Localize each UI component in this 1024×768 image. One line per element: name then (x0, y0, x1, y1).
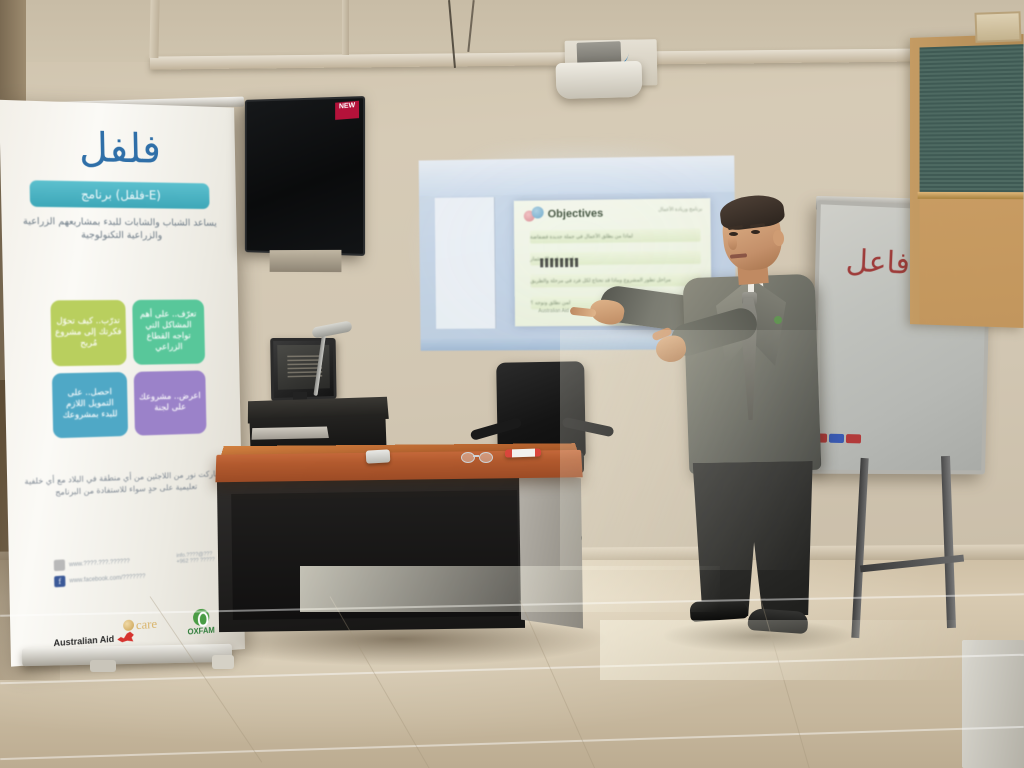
wall-sunlight (560, 330, 820, 570)
ceiling-projector (556, 61, 643, 99)
whiteboard-written-text: فاعل (845, 243, 911, 282)
tv-stand (270, 250, 342, 272)
care-logo: care (123, 616, 157, 634)
door-mesh-transom (920, 44, 1024, 194)
photo-scene: فلفل برنامج (فلفل-E) يساعد الشباب والشاب… (0, 0, 1024, 768)
sunlight-patch-1 (300, 566, 720, 612)
slide-title: Objectives (548, 208, 604, 221)
banner-paragraph: وشاركت نور من اللاجئين من أي منطقة في ال… (21, 468, 228, 501)
slide-logo-icon (524, 206, 546, 222)
ceiling-beam-vertical-right (342, 0, 349, 55)
wall-picture-frame (974, 11, 1021, 43)
facebook-icon: f (54, 576, 65, 588)
presenter-eye-right (751, 230, 760, 234)
banner-cell-taarraf: تعرّف.. على أهم المشاكل التي تواجه القطا… (132, 300, 205, 365)
slide-thumbnail-panel[interactable] (435, 197, 496, 329)
marker-red-2[interactable] (846, 434, 861, 443)
globe-icon (54, 559, 65, 571)
care-swoosh-icon (123, 619, 134, 631)
banner-cell-ihsal: احصل.. على التمويل اللازم للبدء بمشروعك (52, 371, 128, 438)
banner-contact-left: www.????.???.?????? f www.facebook.com/?… (54, 553, 173, 592)
banner-logo-text: فلفل (79, 125, 162, 173)
red-marker-on-desk[interactable] (505, 448, 541, 457)
powerpoint-ribbon[interactable] (419, 155, 735, 196)
banner-website: www.????.???.?????? (69, 558, 130, 567)
rollup-banner: فلفل برنامج (فلفل-E) يساعد الشباب والشاب… (0, 100, 245, 667)
banner-subtitle: يساعد الشباب والشابات للبدء بمشاريعهم ال… (18, 215, 222, 243)
banner-badge-text: برنامج (فلفل-E) (81, 187, 161, 202)
wooden-door[interactable] (910, 34, 1023, 328)
banner-cell-tadarrab: تدرّب.. كيف تحوّل فكرتك إلى مشروع مُربح (50, 300, 126, 366)
banner-logo: فلفل (0, 122, 235, 174)
tv-remote[interactable] (366, 449, 391, 463)
presenter-lapel-pin (774, 316, 782, 324)
slide-logo-ausaid: Australian Aid (538, 308, 569, 314)
banner-foot-left (90, 660, 116, 672)
ceiling-beam-vertical-left (149, 0, 159, 58)
sunlight-patch-2 (600, 620, 980, 680)
eyeglasses[interactable] (461, 452, 491, 462)
door-ledge (918, 192, 1024, 199)
banner-badge: برنامج (فلفل-E) (30, 180, 210, 209)
banner-feature-grid: تدرّب.. كيف تحوّل فكرتك إلى مشروع مُربح … (50, 300, 206, 439)
banner-cell-iaarid: اعرض.. مشروعك على لجنة (133, 370, 206, 436)
tv-new-badge: NEW (335, 101, 359, 120)
banner-facebook: www.facebook.com/??????? (69, 573, 145, 584)
wall-television[interactable]: NEW (245, 96, 365, 256)
keyboard[interactable] (252, 426, 329, 439)
slide-scribble (540, 258, 580, 267)
care-label: care (136, 616, 157, 632)
